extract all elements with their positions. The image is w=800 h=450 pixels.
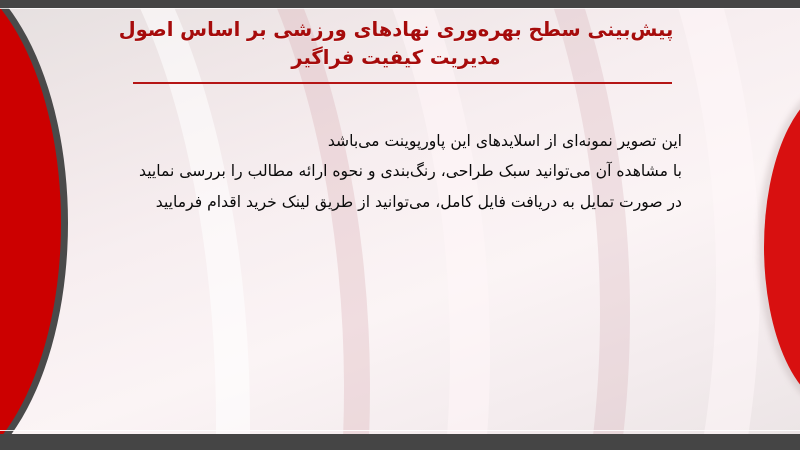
- frame-band-bottom: [0, 434, 800, 450]
- slide-title: پیش‌بینی سطح بهره‌وری نهادهای ورزشی بر ا…: [118, 16, 674, 71]
- frame-hairline-top: [0, 8, 800, 9]
- background-arc-bands: [0, 8, 800, 434]
- body-line-2: با مشاهده آن می‌توانید سبک طراحی، رنگ‌بن…: [122, 156, 682, 186]
- frame-band-top: [0, 0, 800, 8]
- frame-hairline-bottom: [0, 430, 800, 431]
- slide-canvas: پیش‌بینی سطح بهره‌وری نهادهای ورزشی بر ا…: [0, 0, 800, 450]
- body-line-3: در صورت تمایل به دریافت فایل کامل، می‌تو…: [122, 187, 682, 217]
- slide-body-text: این تصویر نمونه‌ای از اسلایدهای این پاور…: [122, 126, 682, 217]
- slide-title-line-1: پیش‌بینی سطح بهره‌وری نهادهای ورزشی بر ا…: [118, 16, 674, 44]
- body-line-1: این تصویر نمونه‌ای از اسلایدهای این پاور…: [122, 126, 682, 156]
- slide-content-area: پیش‌بینی سطح بهره‌وری نهادهای ورزشی بر ا…: [0, 8, 800, 434]
- title-underline-rule: [133, 82, 672, 84]
- slide-title-line-2: مدیریت کیفیت فراگیر: [118, 44, 674, 72]
